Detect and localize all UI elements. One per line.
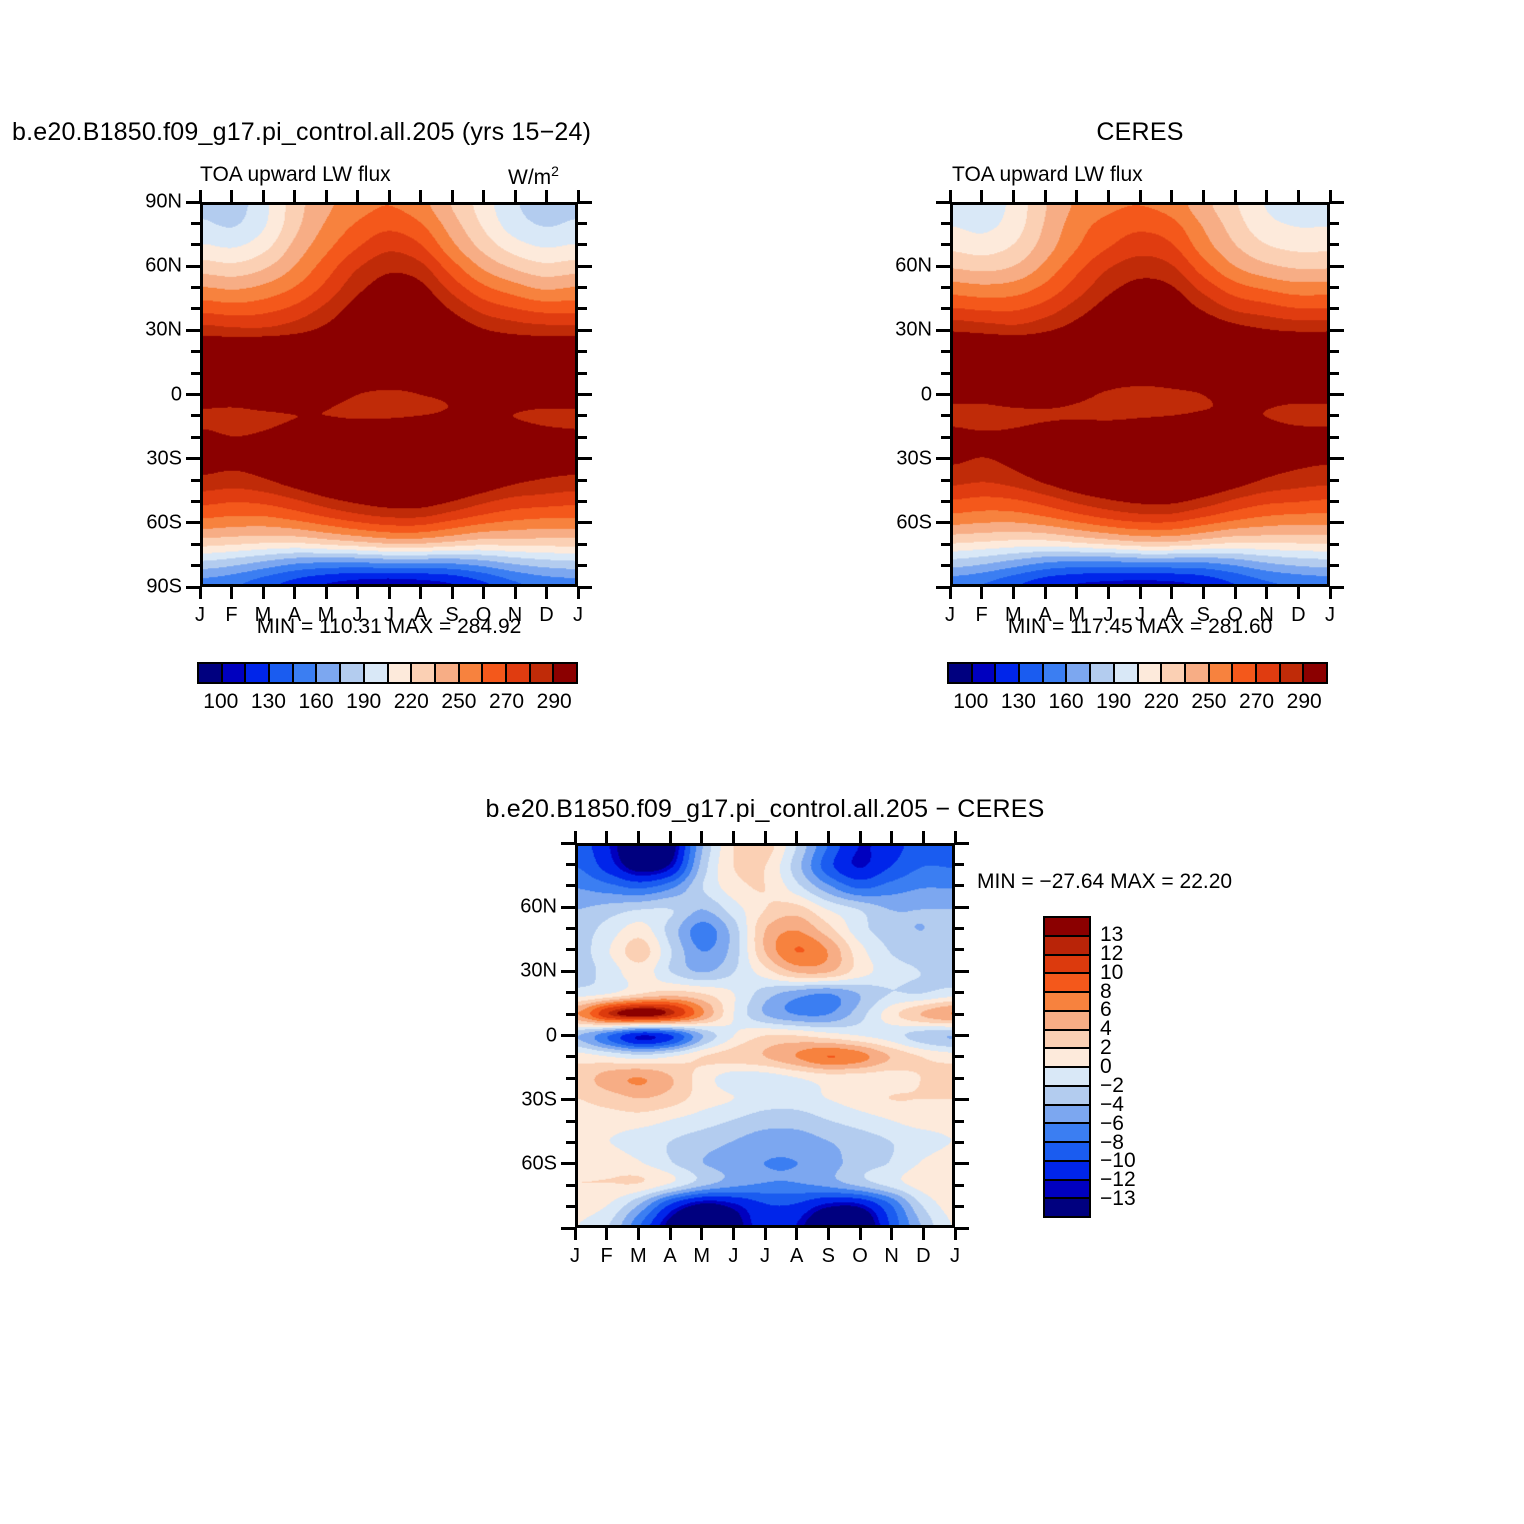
axis-tick	[980, 190, 983, 202]
axis-tick	[764, 1228, 767, 1240]
x-axis-label: N	[884, 1245, 898, 1268]
colorbar-tick-label: −13	[1100, 1187, 1136, 1211]
axis-tick	[955, 1227, 969, 1230]
colorbar-swatch	[365, 664, 389, 682]
y-axis-label: 60N	[870, 255, 932, 278]
x-axis-label: J	[945, 604, 955, 627]
axis-tick	[578, 479, 587, 482]
axis-tick	[955, 842, 969, 845]
axis-tick	[1330, 307, 1339, 310]
x-axis-label: J	[950, 1245, 960, 1268]
axis-tick	[186, 329, 200, 332]
axis-tick	[566, 1120, 575, 1123]
x-axis-label: S	[822, 1245, 835, 1268]
axis-tick	[1330, 265, 1344, 268]
axis-tick	[186, 521, 200, 524]
axis-tick	[1265, 587, 1268, 599]
axis-tick	[574, 1228, 577, 1240]
x-axis-label: D	[1291, 604, 1305, 627]
axis-tick	[1297, 190, 1300, 202]
axis-tick	[1075, 587, 1078, 599]
colorbar-swatch	[996, 664, 1020, 682]
colorbar-swatch	[1020, 664, 1044, 682]
axis-tick	[356, 587, 359, 599]
axis-tick	[890, 831, 893, 843]
y-axis-label: 60S	[495, 1152, 557, 1175]
axis-tick	[1330, 521, 1344, 524]
colorbar-swatch	[1045, 956, 1089, 975]
axis-tick	[1330, 414, 1339, 417]
axis-tick	[941, 479, 950, 482]
model-colorbar-labels: 100130160190220250270290	[197, 690, 578, 718]
x-axis-label: O	[852, 1245, 868, 1268]
x-axis-label: D	[916, 1245, 930, 1268]
axis-tick	[545, 587, 548, 599]
axis-tick	[980, 587, 983, 599]
axis-tick	[566, 1077, 575, 1080]
axis-tick	[1330, 479, 1339, 482]
axis-tick	[514, 190, 517, 202]
x-axis-label: F	[976, 604, 988, 627]
axis-tick	[637, 831, 640, 843]
x-axis-label: J	[1325, 604, 1335, 627]
colorbar-swatch	[1045, 1031, 1089, 1050]
colorbar-swatch	[436, 664, 460, 682]
colorbar-swatch	[1091, 664, 1115, 682]
axis-tick	[191, 222, 200, 225]
colorbar-swatch	[1139, 664, 1163, 682]
axis-tick	[566, 1055, 575, 1058]
axis-tick	[936, 201, 950, 204]
axis-tick	[186, 265, 200, 268]
colorbar-swatch	[1045, 1106, 1089, 1125]
axis-tick	[955, 1205, 964, 1208]
y-axis-label: 30N	[495, 960, 557, 983]
obs-colorbar	[947, 662, 1328, 684]
colorbar-swatch	[389, 664, 413, 682]
axis-tick	[561, 1162, 575, 1165]
axis-tick	[936, 586, 950, 589]
model-minmax-text: MIN = 110.31 MAX = 284.92	[257, 615, 522, 639]
axis-tick	[191, 372, 200, 375]
axis-tick	[566, 927, 575, 930]
colorbar-swatch	[1045, 937, 1089, 956]
axis-tick	[1234, 190, 1237, 202]
colorbar-swatch	[223, 664, 247, 682]
obs-contour-field	[953, 205, 1327, 584]
axis-tick	[955, 1162, 969, 1165]
colorbar-tick-label: 290	[537, 690, 572, 714]
axis-tick	[566, 991, 575, 994]
y-axis-label: 60N	[495, 896, 557, 919]
x-axis-label: D	[539, 604, 553, 627]
model-contour-plot	[200, 202, 578, 587]
axis-tick	[566, 1184, 575, 1187]
colorbar-swatch	[317, 664, 341, 682]
axis-tick	[419, 587, 422, 599]
obs-colorbar-labels: 100130160190220250270290	[947, 690, 1328, 718]
axis-tick	[955, 991, 964, 994]
axis-tick	[1170, 587, 1173, 599]
colorbar-tick-label: 190	[1096, 690, 1131, 714]
axis-tick	[230, 190, 233, 202]
colorbar-swatch	[1304, 664, 1326, 682]
obs-minmax-text: MIN = 117.45 MAX = 281.60	[1008, 615, 1273, 639]
axis-tick	[561, 842, 575, 845]
axis-tick	[191, 350, 200, 353]
axis-tick	[941, 372, 950, 375]
axis-tick	[1330, 372, 1339, 375]
obs-panel-subtitle-left: TOA upward LW flux	[952, 163, 1143, 187]
axis-tick	[955, 1077, 964, 1080]
axis-tick	[191, 414, 200, 417]
axis-tick	[566, 948, 575, 951]
y-axis-label: 30S	[870, 447, 932, 470]
axis-tick	[1330, 201, 1344, 204]
axis-tick	[936, 329, 950, 332]
model-colorbar	[197, 662, 578, 684]
x-axis-label: J	[760, 1245, 770, 1268]
axis-tick	[561, 1034, 575, 1037]
axis-tick	[578, 500, 587, 503]
y-axis-label: 0	[120, 383, 182, 406]
axis-tick	[514, 587, 517, 599]
axis-tick	[955, 927, 964, 930]
axis-tick	[605, 1228, 608, 1240]
x-axis-label: A	[663, 1245, 676, 1268]
axis-tick	[941, 543, 950, 546]
colorbar-swatch	[1045, 974, 1089, 993]
axis-tick	[186, 586, 200, 589]
axis-tick	[1044, 587, 1047, 599]
axis-tick	[955, 906, 969, 909]
colorbar-tick-label: 250	[441, 690, 476, 714]
axis-tick	[859, 831, 862, 843]
axis-tick	[561, 1098, 575, 1101]
axis-tick	[191, 286, 200, 289]
model-panel-units: W/m2	[508, 163, 559, 190]
colorbar-tick-label: 100	[953, 690, 988, 714]
colorbar-swatch	[1045, 1199, 1089, 1216]
y-axis-label: 30S	[495, 1088, 557, 1111]
colorbar-tick-label: 190	[346, 690, 381, 714]
colorbar-swatch	[270, 664, 294, 682]
colorbar-swatch	[1257, 664, 1281, 682]
axis-tick	[325, 587, 328, 599]
axis-tick	[955, 970, 969, 973]
x-axis-label: F	[225, 604, 237, 627]
diff-colorbar	[1043, 916, 1091, 1218]
axis-tick	[1170, 190, 1173, 202]
axis-tick	[1330, 436, 1339, 439]
axis-tick	[941, 222, 950, 225]
colorbar-swatch	[483, 664, 507, 682]
axis-tick	[293, 190, 296, 202]
axis-tick	[578, 222, 587, 225]
axis-tick	[186, 393, 200, 396]
colorbar-swatch	[507, 664, 531, 682]
axis-tick	[700, 1228, 703, 1240]
x-axis-label: J	[570, 1245, 580, 1268]
diff-minmax-text: MIN = −27.64 MAX = 22.20	[977, 870, 1232, 894]
axis-tick	[1330, 564, 1339, 567]
model-panel-subtitle-left: TOA upward LW flux	[200, 163, 391, 187]
colorbar-tick-label: 160	[299, 690, 334, 714]
colorbar-swatch	[1233, 664, 1257, 682]
axis-tick	[941, 307, 950, 310]
y-axis-label: 60S	[870, 511, 932, 534]
axis-tick	[186, 201, 200, 204]
axis-tick	[578, 307, 587, 310]
axis-tick	[1044, 190, 1047, 202]
colorbar-swatch	[1045, 1068, 1089, 1087]
y-axis-label: 60N	[120, 255, 182, 278]
colorbar-swatch	[460, 664, 484, 682]
axis-tick	[1202, 587, 1205, 599]
colorbar-swatch	[1210, 664, 1234, 682]
axis-tick	[955, 884, 964, 887]
axis-tick	[388, 190, 391, 202]
colorbar-swatch	[1186, 664, 1210, 682]
axis-tick	[637, 1228, 640, 1240]
colorbar-swatch	[1044, 664, 1068, 682]
colorbar-swatch	[1045, 1162, 1089, 1181]
colorbar-tick-label: 130	[251, 690, 286, 714]
x-axis-label: J	[195, 604, 205, 627]
axis-tick	[859, 1228, 862, 1240]
diff-panel-title: b.e20.B1850.f09_g17.pi_control.all.205 −…	[486, 795, 1045, 824]
axis-tick	[1012, 587, 1015, 599]
axis-tick	[578, 350, 587, 353]
axis-tick	[955, 1098, 969, 1101]
axis-tick	[941, 500, 950, 503]
axis-tick	[1330, 350, 1339, 353]
axis-tick	[941, 243, 950, 246]
y-axis-label: 30N	[870, 319, 932, 342]
colorbar-tick-label: 130	[1001, 690, 1036, 714]
y-axis-label: 0	[870, 383, 932, 406]
axis-tick	[578, 564, 587, 567]
colorbar-swatch	[294, 664, 318, 682]
diff-contour-field	[578, 846, 952, 1225]
axis-tick	[795, 1228, 798, 1240]
axis-tick	[955, 863, 964, 866]
axis-tick	[1202, 190, 1205, 202]
axis-tick	[955, 1034, 969, 1037]
axis-tick	[732, 831, 735, 843]
axis-tick	[1234, 587, 1237, 599]
colorbar-tick-label: 270	[1239, 690, 1274, 714]
axis-tick	[191, 500, 200, 503]
axis-tick	[566, 863, 575, 866]
y-axis-label: 90N	[120, 191, 182, 214]
x-axis-label: J	[573, 604, 583, 627]
colorbar-swatch	[246, 664, 270, 682]
colorbar-tick-label: 100	[203, 690, 238, 714]
axis-tick	[922, 831, 925, 843]
axis-tick	[669, 831, 672, 843]
colorbar-swatch	[1045, 1143, 1089, 1162]
colorbar-tick-label: 220	[1144, 690, 1179, 714]
axis-tick	[578, 543, 587, 546]
axis-tick	[1330, 457, 1344, 460]
axis-tick	[451, 587, 454, 599]
axis-tick	[186, 457, 200, 460]
axis-tick	[566, 884, 575, 887]
colorbar-swatch	[199, 664, 223, 682]
diff-contour-plot	[575, 843, 955, 1228]
axis-tick	[1330, 243, 1339, 246]
axis-tick	[419, 190, 422, 202]
axis-tick	[795, 831, 798, 843]
axis-tick	[669, 1228, 672, 1240]
colorbar-swatch	[1045, 1012, 1089, 1031]
axis-tick	[954, 1228, 957, 1240]
colorbar-swatch	[1067, 664, 1091, 682]
axis-tick	[1330, 393, 1344, 396]
obs-panel-title: CERES	[1096, 118, 1183, 147]
axis-tick	[293, 587, 296, 599]
colorbar-swatch	[341, 664, 365, 682]
axis-tick	[732, 1228, 735, 1240]
colorbar-swatch	[412, 664, 436, 682]
axis-tick	[936, 457, 950, 460]
axis-tick	[700, 831, 703, 843]
axis-tick	[191, 564, 200, 567]
axis-tick	[1330, 222, 1339, 225]
axis-tick	[1107, 190, 1110, 202]
axis-tick	[578, 286, 587, 289]
axis-tick	[827, 1228, 830, 1240]
colorbar-tick-label: 220	[394, 690, 429, 714]
x-axis-label: M	[693, 1245, 710, 1268]
colorbar-swatch	[1162, 664, 1186, 682]
colorbar-tick-label: 160	[1049, 690, 1084, 714]
axis-tick	[936, 265, 950, 268]
y-axis-label: 30N	[120, 319, 182, 342]
axis-tick	[955, 1120, 964, 1123]
axis-tick	[827, 831, 830, 843]
axis-tick	[922, 1228, 925, 1240]
colorbar-tick-label: 290	[1287, 690, 1322, 714]
axis-tick	[191, 243, 200, 246]
colorbar-swatch	[531, 664, 555, 682]
axis-tick	[191, 436, 200, 439]
axis-tick	[578, 436, 587, 439]
axis-tick	[1330, 586, 1344, 589]
axis-tick	[941, 350, 950, 353]
colorbar-swatch	[1045, 1181, 1089, 1200]
axis-tick	[955, 948, 964, 951]
colorbar-swatch	[554, 664, 576, 682]
axis-tick	[561, 970, 575, 973]
colorbar-swatch	[1115, 664, 1139, 682]
axis-tick	[262, 587, 265, 599]
axis-tick	[578, 243, 587, 246]
axis-tick	[1330, 500, 1339, 503]
axis-tick	[482, 587, 485, 599]
axis-tick	[941, 436, 950, 439]
axis-tick	[578, 393, 592, 396]
axis-tick	[941, 286, 950, 289]
axis-tick	[388, 587, 391, 599]
x-axis-label: M	[630, 1245, 647, 1268]
axis-tick	[451, 190, 454, 202]
axis-tick	[578, 201, 592, 204]
y-axis-label: 60S	[120, 511, 182, 534]
axis-tick	[764, 831, 767, 843]
axis-tick	[1139, 190, 1142, 202]
y-axis-label: 90S	[120, 576, 182, 599]
axis-tick	[578, 521, 592, 524]
colorbar-swatch	[1281, 664, 1305, 682]
colorbar-swatch	[973, 664, 997, 682]
axis-tick	[578, 414, 587, 417]
colorbar-swatch	[1045, 993, 1089, 1012]
diff-colorbar-labels: 13121086420−2−4−6−8−10−12−13	[1100, 916, 1170, 1218]
axis-tick	[1330, 329, 1344, 332]
obs-contour-plot	[950, 202, 1330, 587]
axis-tick	[890, 1228, 893, 1240]
axis-tick	[955, 1013, 964, 1016]
x-axis-label: A	[790, 1245, 803, 1268]
axis-tick	[949, 587, 952, 599]
axis-tick	[936, 521, 950, 524]
axis-tick	[578, 372, 587, 375]
axis-tick	[578, 329, 592, 332]
axis-tick	[1329, 587, 1332, 599]
axis-tick	[1297, 587, 1300, 599]
x-axis-label: J	[728, 1245, 738, 1268]
axis-tick	[1012, 190, 1015, 202]
axis-tick	[955, 1184, 964, 1187]
axis-tick	[605, 831, 608, 843]
axis-tick	[577, 587, 580, 599]
axis-tick	[941, 564, 950, 567]
axis-tick	[262, 190, 265, 202]
axis-tick	[325, 190, 328, 202]
axis-tick	[566, 1205, 575, 1208]
colorbar-swatch	[1045, 1087, 1089, 1106]
axis-tick	[230, 587, 233, 599]
model-panel-title: b.e20.B1850.f09_g17.pi_control.all.205 (…	[12, 118, 591, 147]
axis-tick	[1265, 190, 1268, 202]
model-contour-field	[203, 205, 575, 584]
axis-tick	[578, 586, 592, 589]
axis-tick	[191, 479, 200, 482]
axis-tick	[199, 587, 202, 599]
axis-tick	[1107, 587, 1110, 599]
axis-tick	[191, 307, 200, 310]
axis-tick	[1330, 543, 1339, 546]
axis-tick	[561, 1227, 575, 1230]
axis-tick	[955, 1055, 964, 1058]
axis-tick	[356, 190, 359, 202]
axis-tick	[578, 457, 592, 460]
colorbar-tick-label: 270	[489, 690, 524, 714]
colorbar-swatch	[1045, 918, 1089, 937]
axis-tick	[578, 265, 592, 268]
axis-tick	[482, 190, 485, 202]
axis-tick	[566, 1013, 575, 1016]
axis-tick	[1330, 286, 1339, 289]
x-axis-label: F	[601, 1245, 613, 1268]
y-axis-label: 0	[495, 1024, 557, 1047]
axis-tick	[566, 1141, 575, 1144]
axis-tick	[936, 393, 950, 396]
axis-tick	[191, 543, 200, 546]
colorbar-swatch	[949, 664, 973, 682]
